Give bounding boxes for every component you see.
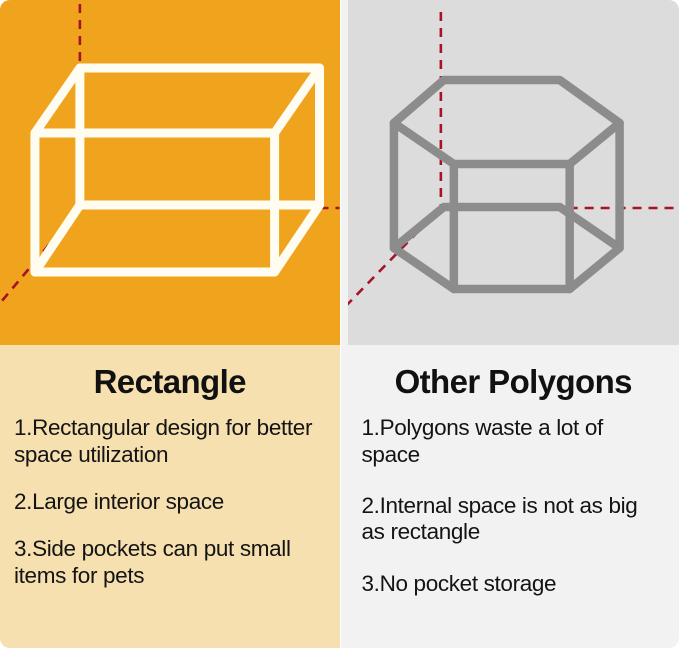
feature-item: 3.Side pockets can put small items for p… [14,536,326,589]
feature-item: 1.Polygons waste a lot of space [362,415,666,468]
feature-item: 3.No pocket storage [362,571,666,597]
polygon-illustration-bg [348,0,679,345]
feature-item: 2.Internal space is not as big as rectan… [362,493,666,546]
rectangle-feature-list: 1.Rectangular design for better space ut… [14,415,326,610]
polygon-text-block: Other Polygons 1.Polygons waste a lot of… [340,345,679,648]
feature-item: 2.Large interior space [14,489,326,515]
column-rectangle: Rectangle 1.Rectangular design for bette… [0,0,340,648]
hexagonal-prism-wireframe-icon [348,0,679,345]
rectangle-text-block: Rectangle 1.Rectangular design for bette… [0,345,340,648]
rectangle-illustration-panel [0,0,340,345]
box-edge-bottom-right [275,205,320,272]
rectangle-illustration-bg [0,0,340,345]
box-edge-bottom-left [35,205,80,272]
hexagon-top-face [393,80,619,164]
hexagon-edges [393,80,619,289]
comparison-infographic: Rectangle 1.Rectangular design for bette… [0,0,679,648]
polygon-panel-title: Other Polygons [362,365,666,399]
hexagon-bottom-face [393,207,619,289]
box-edge-top-right [275,68,320,133]
box-edges [35,68,320,272]
feature-item: 1.Rectangular design for better space ut… [14,415,326,468]
polygon-illustration-panel [340,0,679,345]
rectangle-panel-title: Rectangle [14,365,326,399]
rectangular-box-wireframe-icon [0,0,340,345]
polygon-feature-list: 1.Polygons waste a lot of space 2.Intern… [362,415,666,622]
box-edge-top-left [35,68,80,133]
column-other-polygons: Other Polygons 1.Polygons waste a lot of… [340,0,679,648]
